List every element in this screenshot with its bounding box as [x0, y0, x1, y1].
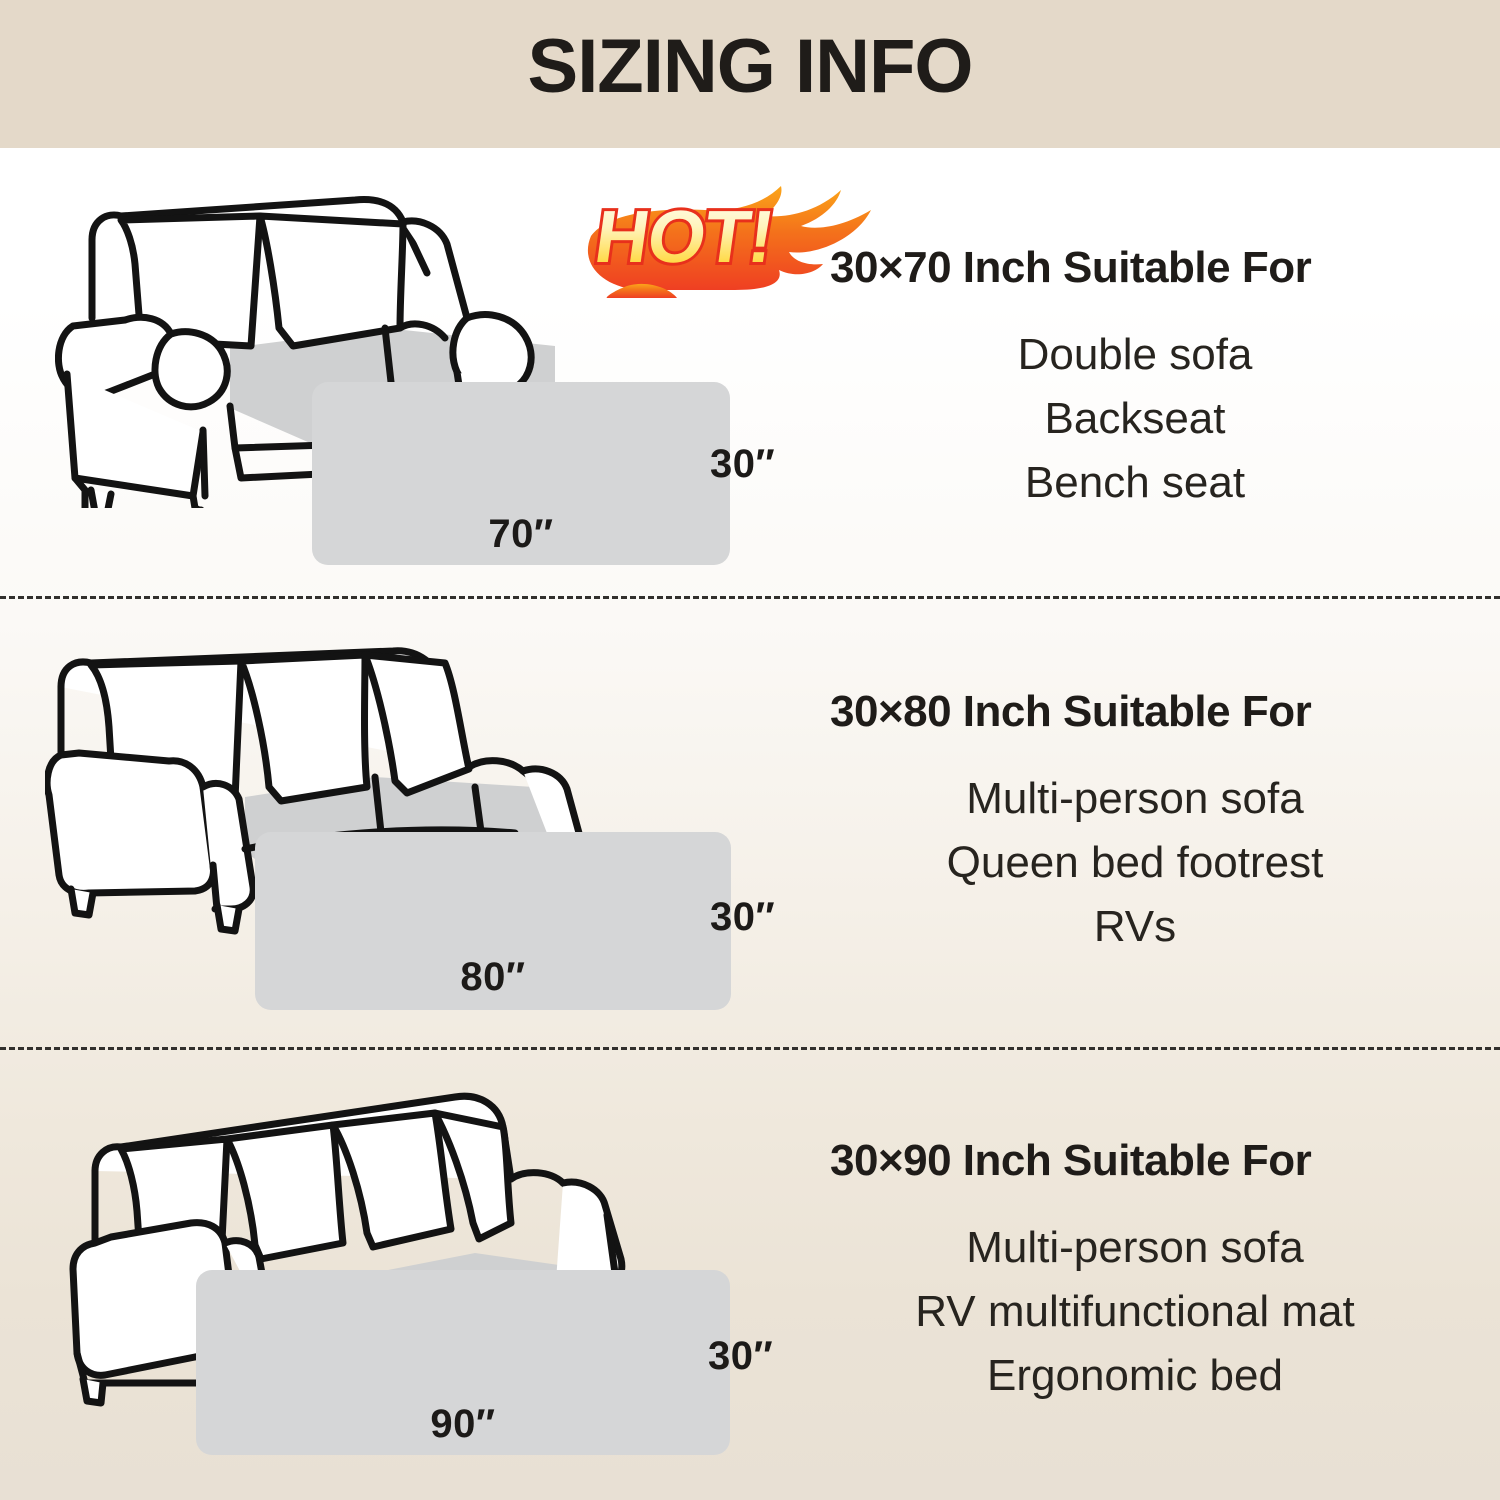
sizing-section-30x70: HOT! 70″ 30″ 30×70 Inch Suitable For Dou… [0, 148, 1500, 597]
sizing-section-30x90: 90″ 30″ 30×90 Inch Suitable For Multi-pe… [0, 1048, 1500, 1500]
list-item: Multi-person sofa [830, 1216, 1440, 1280]
hot-badge-label: HOT! [590, 195, 778, 278]
list-item: Queen bed footrest [830, 831, 1440, 895]
list-item: Bench seat [830, 451, 1440, 515]
text-column-30x90: 30×90 Inch Suitable For Multi-person sof… [830, 1136, 1440, 1407]
page-title: SIZING INFO [0, 29, 1500, 105]
width-label-70: 70″ [312, 512, 730, 557]
height-label-30: 30″ [710, 442, 775, 487]
width-label-80: 80″ [255, 955, 731, 1000]
text-column-30x70: 30×70 Inch Suitable For Double sofa Back… [830, 243, 1440, 514]
height-label-30: 30″ [708, 1334, 773, 1379]
dimension-rect-30x80: 80″ [255, 832, 731, 1010]
use-list-30x90: Multi-person sofa RV multifunctional mat… [830, 1216, 1440, 1407]
sizing-section-30x80: 80″ 30″ 30×80 Inch Suitable For Multi-pe… [0, 597, 1500, 1048]
height-label-30: 30″ [710, 895, 775, 940]
list-item: Backseat [830, 387, 1440, 451]
use-list-30x70: Double sofa Backseat Bench seat [830, 323, 1440, 514]
dimension-rect-30x70: 70″ [312, 382, 730, 565]
hot-badge: HOT! [565, 178, 875, 303]
section-title-30x90: 30×90 Inch Suitable For [830, 1136, 1440, 1186]
list-item: Ergonomic bed [830, 1344, 1440, 1408]
header-band: SIZING INFO [0, 0, 1500, 148]
list-item: Double sofa [830, 323, 1440, 387]
use-list-30x80: Multi-person sofa Queen bed footrest RVs [830, 767, 1440, 958]
section-title-30x80: 30×80 Inch Suitable For [830, 687, 1440, 737]
text-column-30x80: 30×80 Inch Suitable For Multi-person sof… [830, 687, 1440, 958]
section-title-30x70: 30×70 Inch Suitable For [830, 243, 1440, 293]
list-item: Multi-person sofa [830, 767, 1440, 831]
dimension-rect-30x90: 90″ [196, 1270, 730, 1455]
width-label-90: 90″ [196, 1402, 730, 1447]
list-item: RVs [830, 895, 1440, 959]
list-item: RV multifunctional mat [830, 1280, 1440, 1344]
